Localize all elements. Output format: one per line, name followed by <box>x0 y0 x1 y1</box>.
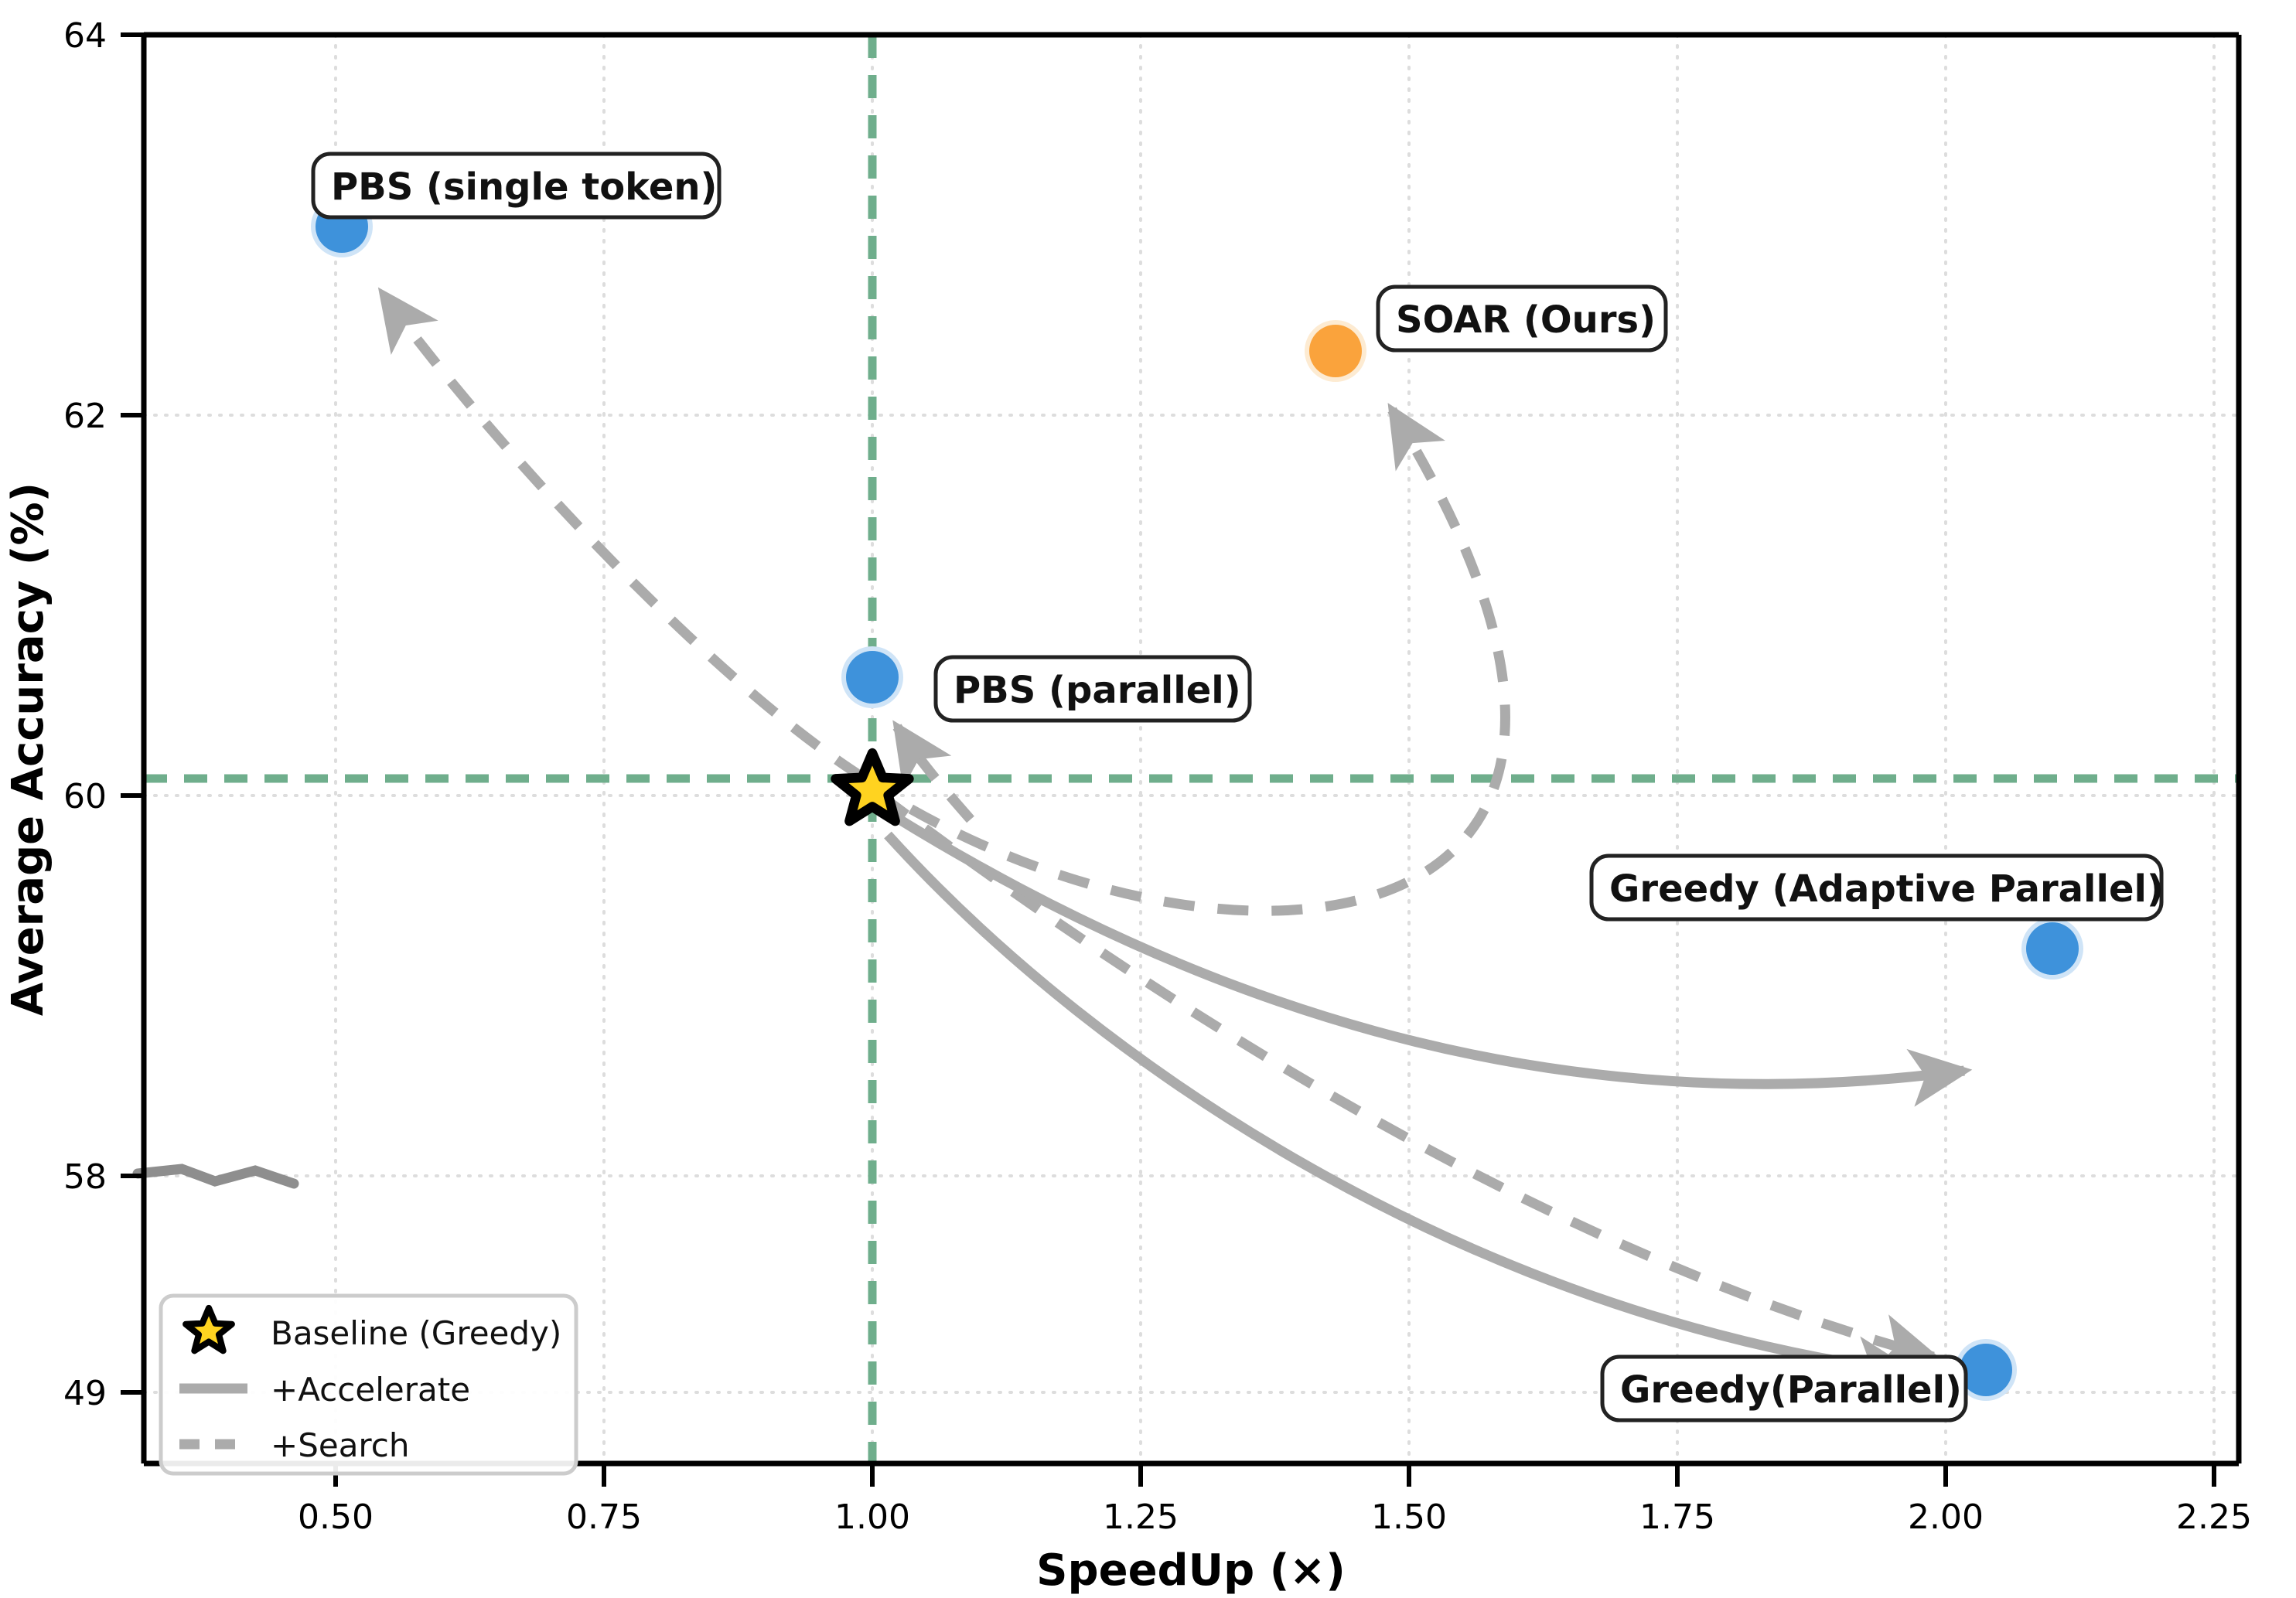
annotation-greedy-parallel: Greedy(Parallel) <box>1602 1357 1966 1420</box>
x-axis-title: SpeedUp (×) <box>1036 1545 1346 1596</box>
annotation-soar-ours: SOAR (Ours) <box>1378 287 1666 350</box>
data-point-soar-ours[interactable] <box>1305 320 1366 382</box>
y-tick-label-2: 60 <box>63 777 107 816</box>
annotation-label: PBS (parallel) <box>954 669 1241 712</box>
y-tick-label-4: 49 <box>63 1374 107 1413</box>
x-axis-ticks <box>336 1463 2214 1487</box>
y-tick-label-1: 62 <box>63 397 107 436</box>
legend-label: Baseline (Greedy) <box>271 1314 561 1352</box>
scatter-plot-svg: 64 62 60 58 49 0.50 0.75 1.00 1.25 1.50 … <box>0 0 2296 1598</box>
data-point-pbs-parallel[interactable] <box>841 646 903 708</box>
chart-figure: 64 62 60 58 49 0.50 0.75 1.00 1.25 1.50 … <box>0 0 2296 1598</box>
annotation-label: PBS (single token) <box>331 165 717 209</box>
annotation-label: Greedy(Parallel) <box>1620 1368 1962 1412</box>
x-tick-label-3: 1.25 <box>1103 1497 1179 1537</box>
y-axis-ticks <box>121 35 144 1392</box>
chart-legend: Baseline (Greedy) +Accelerate +Search <box>161 1296 576 1474</box>
x-tick-label-5: 1.75 <box>1639 1497 1715 1537</box>
annotation-pbs-parallel: PBS (parallel) <box>936 657 1250 721</box>
y-tick-label-0: 64 <box>63 16 107 56</box>
x-tick-label-4: 1.50 <box>1371 1497 1447 1537</box>
y-axis-title: Average Accuracy (%) <box>3 482 53 1016</box>
x-tick-label-1: 0.75 <box>566 1497 642 1537</box>
annotation-label: SOAR (Ours) <box>1396 298 1656 342</box>
y-tick-label-3: 58 <box>63 1157 107 1197</box>
x-tick-label-2: 1.00 <box>834 1497 910 1537</box>
annotation-pbs-single-token: PBS (single token) <box>313 154 719 217</box>
x-tick-label-6: 2.00 <box>1908 1497 1984 1537</box>
legend-label: +Search <box>271 1426 409 1464</box>
data-point-greedy-adaptive-parallel[interactable] <box>2021 918 2083 980</box>
annotation-label: Greedy (Adaptive Parallel) <box>1609 867 2164 911</box>
plot-background <box>144 35 2239 1463</box>
annotation-greedy-adaptive-parallel: Greedy (Adaptive Parallel) <box>1592 856 2164 919</box>
point-marker <box>846 651 899 704</box>
point-marker <box>2026 922 2079 975</box>
x-tick-label-7: 2.25 <box>2176 1497 2252 1537</box>
x-tick-label-0: 0.50 <box>298 1497 374 1537</box>
point-marker <box>1309 325 1362 377</box>
legend-label: +Accelerate <box>271 1371 470 1409</box>
